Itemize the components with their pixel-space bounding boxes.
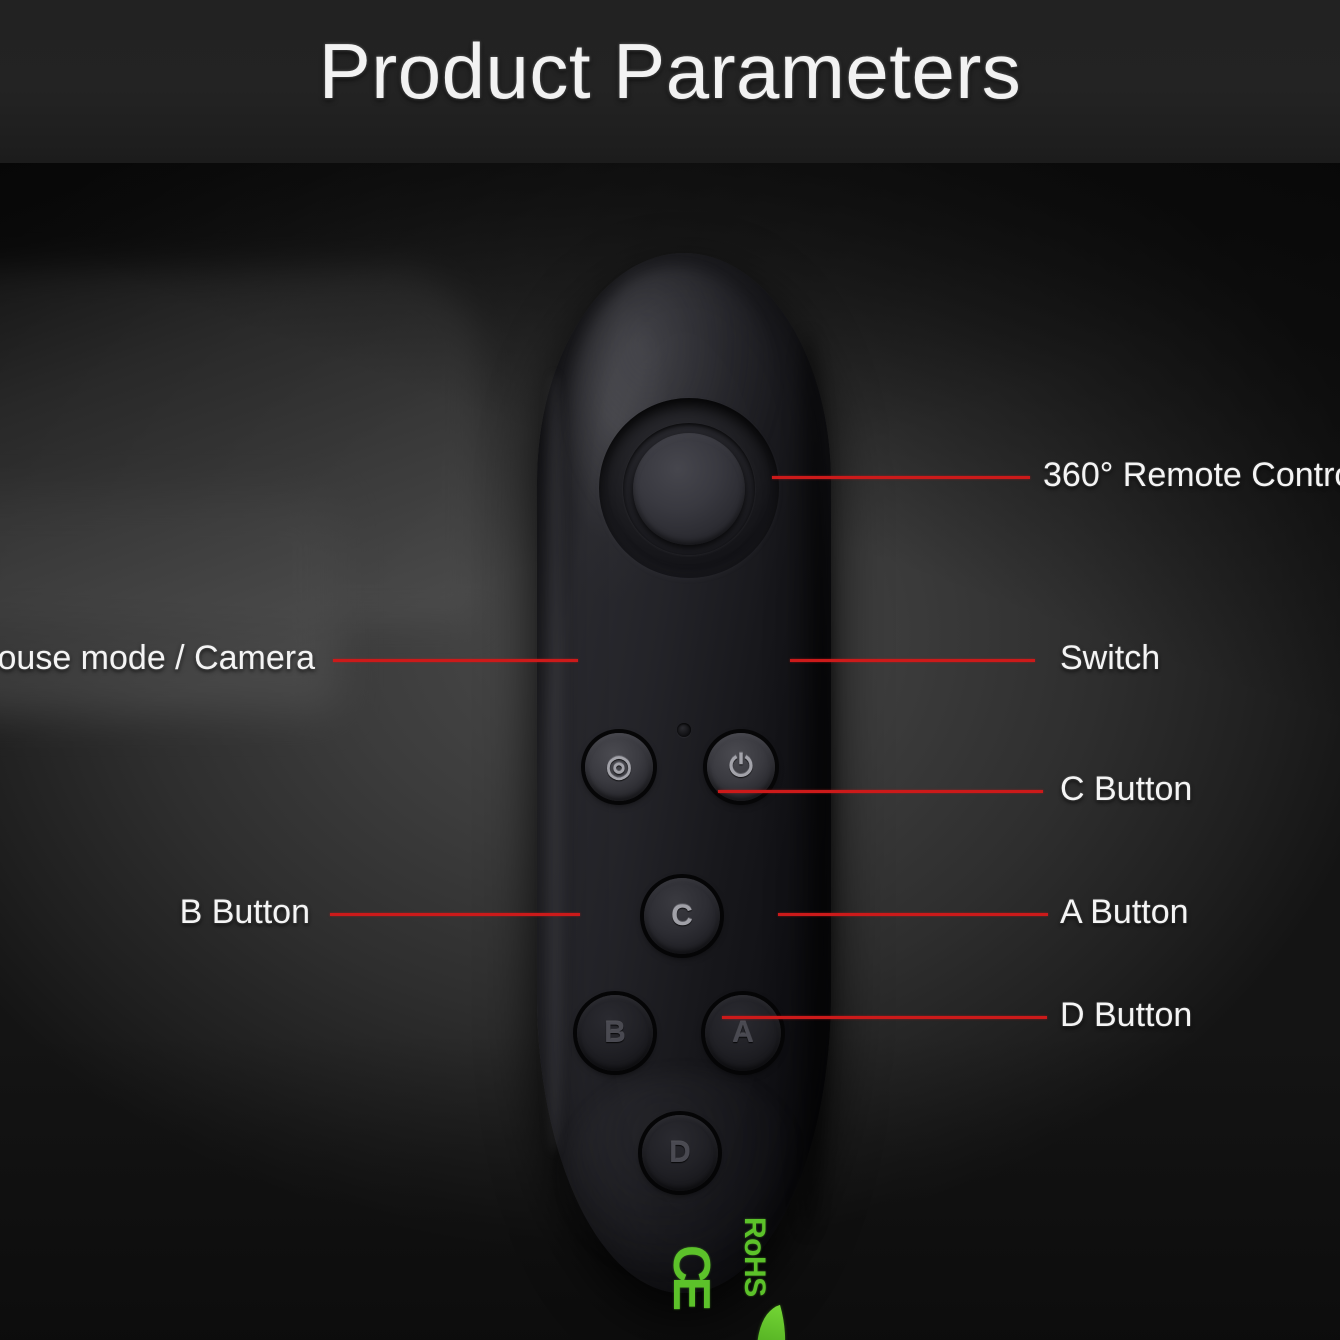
callout-label-mouse-mode: Mouse mode / Camera xyxy=(0,639,315,678)
mouse-mode-camera-button[interactable]: ◎ xyxy=(585,733,653,801)
callout-label-a-button: A Button xyxy=(1060,893,1189,932)
vr-remote-controller: ◎ ⏻ C B A D RoHS xyxy=(537,253,831,1293)
callout-line-c-button xyxy=(718,790,1043,793)
callout-label-switch: Switch xyxy=(1060,639,1160,678)
a-button-glyph: A xyxy=(732,1018,754,1048)
background-blur-shape-2 xyxy=(0,493,340,713)
b-button[interactable]: B xyxy=(577,995,653,1071)
callout-label-b-button: B Button xyxy=(180,893,310,932)
callout-label-c-button: C Button xyxy=(1060,770,1192,809)
c-button-glyph: C xyxy=(671,901,693,931)
rohs-leaf-icon xyxy=(742,1305,801,1340)
rohs-label: RoHS xyxy=(737,1217,771,1297)
callout-line-a-button xyxy=(778,913,1048,916)
ce-mark-label: CE xyxy=(661,1245,721,1305)
callout-line-remote-control xyxy=(772,476,1030,479)
remote-right-shadow xyxy=(785,333,831,1233)
product-parameters-image: Product Parameters ◎ ⏻ xyxy=(0,0,1340,1340)
callout-label-d-button: D Button xyxy=(1060,996,1192,1035)
page-title: Product Parameters xyxy=(0,26,1340,117)
header-band: Product Parameters xyxy=(0,0,1340,163)
remote-left-rim-light xyxy=(541,373,567,1153)
d-button[interactable]: D xyxy=(642,1115,718,1191)
product-photo-stage: ◎ ⏻ C B A D RoHS xyxy=(0,163,1340,1340)
callout-line-d-button xyxy=(722,1016,1047,1019)
c-button[interactable]: C xyxy=(644,878,720,954)
status-led-pinhole xyxy=(677,723,691,737)
a-button[interactable]: A xyxy=(705,995,781,1071)
callout-line-mouse-mode xyxy=(333,659,578,662)
callout-label-remote-control: 360° Remote Control xyxy=(1043,456,1340,495)
d-button-glyph: D xyxy=(669,1138,691,1168)
callout-line-b-button xyxy=(330,913,580,916)
joystick-thumbstick[interactable] xyxy=(633,433,745,545)
power-icon: ⏻ xyxy=(729,752,753,782)
callout-line-switch xyxy=(790,659,1035,662)
certification-marks: RoHS CE xyxy=(587,1223,787,1340)
mouse-mode-icon: ◎ xyxy=(606,752,632,782)
b-button-glyph: B xyxy=(604,1018,626,1048)
